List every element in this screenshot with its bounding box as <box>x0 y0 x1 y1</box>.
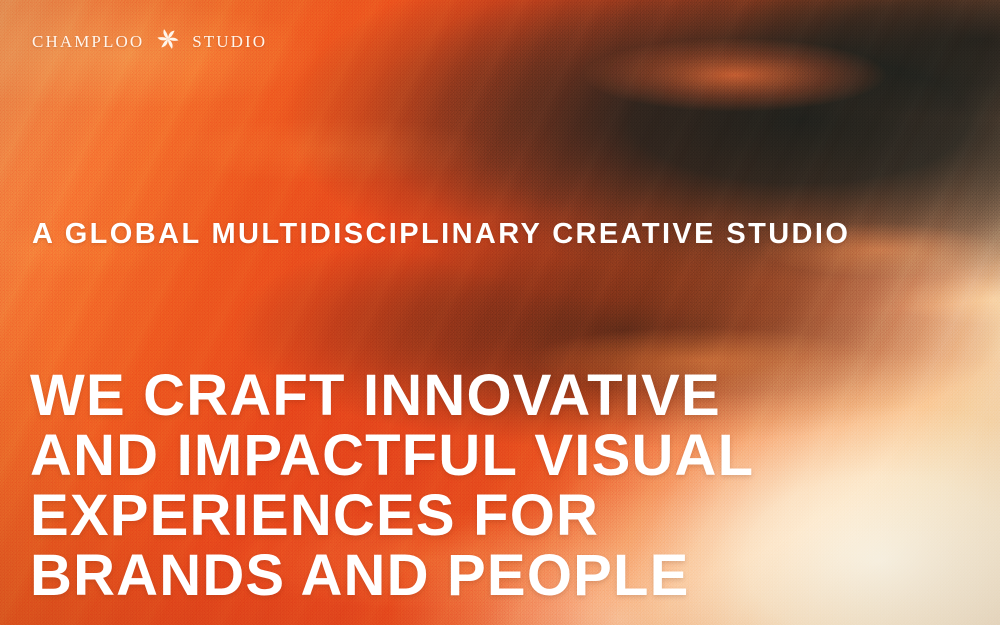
headline-line: WE CRAFT INNOVATIVE <box>30 366 990 426</box>
pinwheel-spiral-icon <box>157 28 179 55</box>
headline-line: EXPERIENCES FOR <box>30 486 990 546</box>
headline-line: BRANDS AND PEOPLE <box>30 546 990 606</box>
brand-name-left: CHAMPLOO <box>32 33 144 50</box>
hero-headline: WE CRAFT INNOVATIVE AND IMPACTFUL VISUAL… <box>30 366 990 606</box>
headline-line: AND IMPACTFUL VISUAL <box>30 426 990 486</box>
hero-eyebrow: A Global Multidisciplinary Creative Stud… <box>32 214 962 254</box>
brand-logo[interactable]: CHAMPLOO <box>32 28 267 55</box>
hero-content: CHAMPLOO <box>0 0 1000 625</box>
hero-section: CHAMPLOO <box>0 0 1000 625</box>
brand-name-right: STUDIO <box>192 33 267 50</box>
